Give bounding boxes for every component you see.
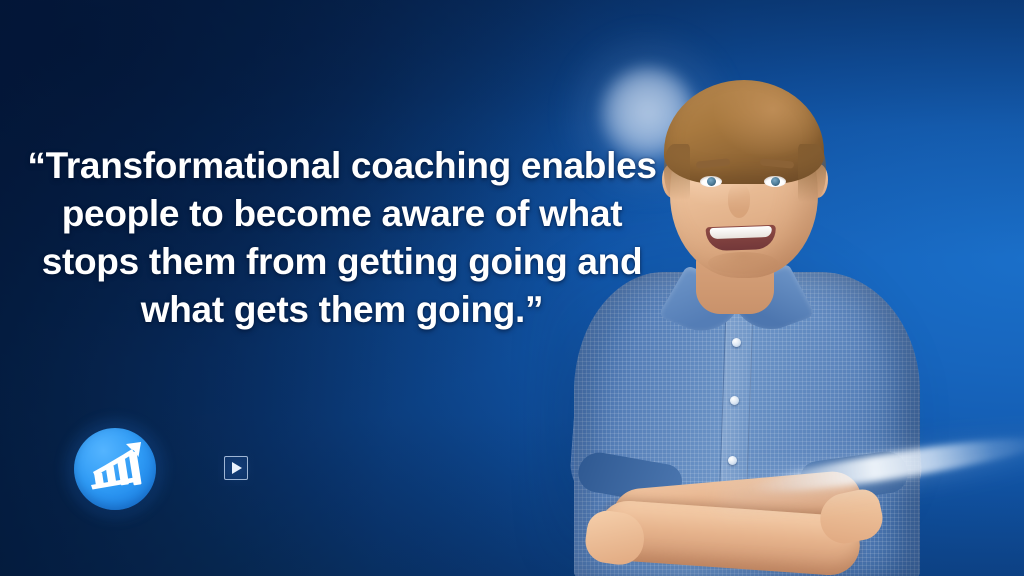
play-icon — [224, 456, 248, 480]
quote-slide: “Transformational coaching enables peopl… — [0, 0, 1024, 576]
play-triangle — [232, 462, 242, 474]
play-button[interactable] — [218, 450, 254, 486]
bar-chart-growth-arrow-icon — [74, 428, 156, 510]
quote-text: “Transformational coaching enables peopl… — [22, 142, 662, 334]
brand-logo[interactable] — [74, 428, 156, 510]
